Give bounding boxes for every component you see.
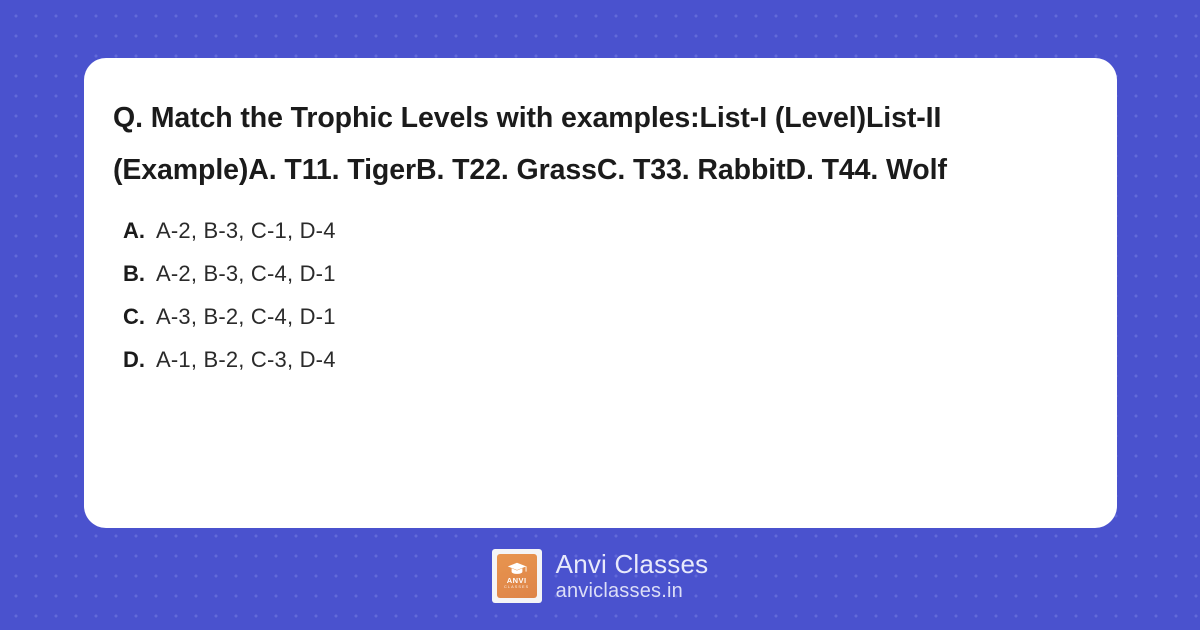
option-letter-c: C.	[123, 304, 149, 330]
option-letter-b: B.	[123, 261, 149, 287]
brand-logo: ANVI CLASSES	[497, 554, 537, 598]
brand-text-block: Anvi Classes anviclasses.in	[556, 550, 709, 603]
option-row-c[interactable]: C. A-3, B-2, C-4, D-1	[113, 304, 1087, 347]
option-text-d: A-1, B-2, C-3, D-4	[156, 347, 336, 373]
option-text-a: A-2, B-3, C-1, D-4	[156, 218, 336, 244]
option-row-a[interactable]: A. A-2, B-3, C-1, D-4	[113, 218, 1087, 261]
option-text-c: A-3, B-2, C-4, D-1	[156, 304, 336, 330]
options-list: A. A-2, B-3, C-1, D-4 B. A-2, B-3, C-4, …	[113, 218, 1087, 390]
option-letter-d: D.	[123, 347, 149, 373]
question-text: Q. Match the Trophic Levels with example…	[113, 92, 1048, 196]
question-card-page: { "background": { "color": "#4a52ce", "d…	[0, 0, 1200, 630]
option-text-b: A-2, B-3, C-4, D-1	[156, 261, 336, 287]
option-row-b[interactable]: B. A-2, B-3, C-4, D-1	[113, 261, 1087, 304]
brand-url[interactable]: anviclasses.in	[556, 579, 709, 603]
graduation-cap-icon	[507, 562, 527, 575]
option-letter-a: A.	[123, 218, 149, 244]
option-row-d[interactable]: D. A-1, B-2, C-3, D-4	[113, 347, 1087, 390]
brand-logo-subtitle: CLASSES	[504, 585, 529, 590]
footer-branding: ANVI CLASSES Anvi Classes anviclasses.in	[0, 545, 1200, 607]
brand-logo-name: ANVI	[507, 577, 527, 585]
question-card: Q. Match the Trophic Levels with example…	[84, 58, 1117, 528]
brand-title: Anvi Classes	[556, 550, 709, 579]
brand-logo-tile: ANVI CLASSES	[492, 549, 542, 603]
